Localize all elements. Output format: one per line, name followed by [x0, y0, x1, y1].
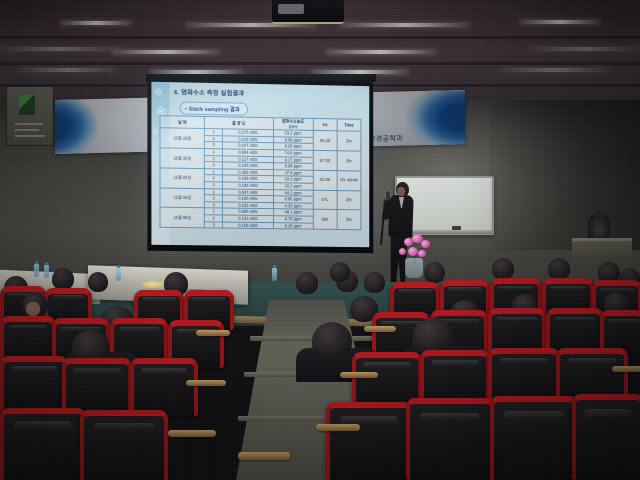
cell-date: 11월 04일 [160, 168, 205, 189]
ceiling-light-fixture [0, 47, 120, 51]
presentation-slide: ❄ ❄ ❄ 4. 염화수소 측정 실험결과 •Stack sampling 결과… [151, 82, 369, 247]
cell-time: 2hr [337, 131, 361, 151]
audience-head [296, 272, 318, 294]
seat-armrest [196, 330, 230, 336]
ceiling-beam [0, 36, 640, 39]
ceiling-light-fixture [500, 68, 610, 72]
wall-poster [6, 86, 54, 146]
ceiling-light-fixture [112, 50, 220, 54]
seat-armrest [364, 326, 396, 332]
presenter-face [397, 187, 405, 196]
ceiling-light-fixture [340, 23, 470, 27]
water-bottle [272, 268, 277, 281]
orchid-bloom [399, 248, 406, 255]
cell-vs: 67L [313, 190, 337, 210]
th-date: 날 짜 [160, 116, 205, 129]
auditorium-seat [130, 358, 198, 416]
whiteboard-eraser [452, 226, 461, 230]
seat-armrest [186, 380, 226, 386]
cell-time: 2hr [337, 190, 361, 210]
auditorium-seat [326, 402, 412, 480]
water-bottle [116, 268, 121, 281]
results-table-body: 10월 29일10.276 ABS23.2 ppm69.282hr20.110 … [160, 128, 361, 230]
auditorium-seat [80, 410, 168, 480]
ceiling-light-fixture [60, 21, 132, 25]
orchid-bloom [408, 247, 418, 256]
bullet-dot-icon: • [185, 106, 187, 112]
audience-head [492, 258, 514, 280]
cell-time: 2hr [337, 210, 361, 230]
cell-vs: 666 [313, 210, 337, 230]
water-bottle [44, 265, 49, 278]
poster-text-line [15, 123, 43, 125]
seat-armrest [612, 366, 640, 372]
ceiling-light-fixture [530, 47, 640, 51]
audience-head [364, 272, 385, 293]
audience-head [312, 322, 352, 360]
cell-date: 11월 09일 [160, 207, 205, 227]
auditorium-seat [490, 396, 578, 480]
cell-time: 2hr [337, 151, 361, 171]
orchid-bloom [421, 240, 430, 248]
audience-head [548, 258, 570, 280]
auditorium-seat [0, 408, 86, 480]
cell-vs: 67.35 [313, 150, 337, 170]
flower-vase [405, 258, 423, 278]
cell-no: 3 [205, 221, 223, 228]
water-bottle [34, 264, 39, 277]
snack-plate [142, 281, 164, 288]
audience-face [26, 302, 40, 316]
ceiling-beam [0, 62, 640, 65]
results-table: 날 짜 흡 광 도 염화수소농도 (ppm) Vs Time 10월 29일10… [160, 115, 362, 230]
cell-date: 11월 06일 [160, 188, 205, 208]
ceiling-light-fixture [326, 50, 436, 54]
auditorium-seat [572, 394, 640, 480]
seat-armrest [238, 452, 290, 460]
poster-text-line [15, 135, 45, 137]
slide-bullet-text: Stack sampling 결과 [189, 106, 240, 113]
lecture-hall-photo: 대구대 대구 일시 : 2009. 11. 20(금) 대구대학교 환경공학과 … [0, 0, 640, 480]
right-wall-shadow [490, 100, 640, 250]
cell-concentration: 8.16 ppm [273, 222, 313, 229]
cell-vs: 53.08 [313, 170, 337, 190]
cell-date: 10월 29일 [160, 128, 205, 149]
seat-armrest [168, 430, 216, 437]
cell-date: 10월 30일 [160, 148, 205, 169]
th-conc-label: 염화수소농도 [282, 118, 305, 123]
podium-attendant-head [594, 210, 606, 222]
ceiling-light-fixture [520, 20, 600, 24]
auditorium-seat [406, 398, 494, 480]
cell-vs: 69.28 [313, 131, 337, 151]
seat-armrest [340, 372, 378, 378]
th-concentration: 염화수소농도 (ppm) [273, 118, 313, 131]
poster-logo-icon [19, 95, 35, 115]
th-time: Time [337, 119, 361, 132]
ceiling-light-fixture [18, 68, 118, 72]
snowflake-icon: ❄ [152, 126, 159, 137]
poster-text-line [15, 129, 39, 131]
audience-head [52, 268, 74, 290]
auditorium-seat [0, 356, 68, 414]
orchid-bloom [418, 250, 426, 257]
seat-armrest [316, 424, 360, 431]
slide-title: 4. 염화수소 측정 실험결과 [174, 87, 245, 97]
slide-bullet-chip: •Stack sampling 결과 [180, 101, 248, 115]
cell-time: 1hr 40min [337, 170, 361, 190]
microphone-icon [386, 191, 390, 200]
ceiling-projector [272, 0, 344, 24]
projection-screen: ❄ ❄ ❄ 4. 염화수소 측정 실험결과 •Stack sampling 결과… [147, 78, 373, 254]
th-vs: Vs [313, 118, 337, 131]
audience-head [330, 262, 350, 282]
cell-absorbance: 0.108 ABS [223, 222, 273, 229]
snowflake-icon: ❄ [153, 88, 162, 99]
